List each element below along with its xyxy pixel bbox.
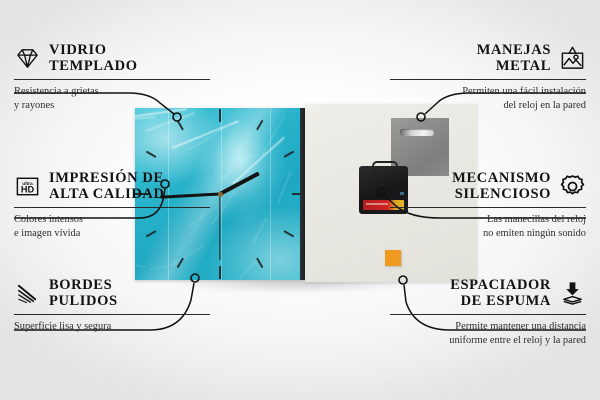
feature-espaciador-de-espuma: ESPACIADOR DE ESPUMA Permite mantener un…	[390, 277, 586, 348]
feature-desc-line1: Permite mantener una distancia	[390, 320, 586, 334]
feature-desc-line1: Las manecillas del reloj	[390, 213, 586, 227]
feature-desc-line1: Permiten una fácil instalación	[390, 85, 586, 99]
foam-spacer-icon	[559, 280, 586, 307]
gear-icon	[559, 173, 586, 200]
feature-title: VIDRIO TEMPLADO	[49, 42, 138, 74]
divider	[14, 79, 210, 80]
feature-header: MECANISMO SILENCIOSO	[390, 170, 586, 202]
polished-edges-icon	[14, 280, 41, 307]
feature-mecanismo-silencioso: MECANISMO SILENCIOSO Las manecillas del …	[390, 170, 586, 241]
diamond-icon	[14, 45, 41, 72]
feature-title-line1: BORDES	[49, 277, 118, 293]
divider	[14, 314, 210, 315]
feature-title-line1: MECANISMO	[452, 170, 551, 186]
divider	[390, 207, 586, 208]
feature-title-line1: ESPACIADOR	[450, 277, 551, 293]
feature-desc-line2: e imagen vívida	[14, 227, 210, 241]
feature-title-line2: DE ESPUMA	[450, 293, 551, 309]
feature-bordes-pulidos: BORDES PULIDOS Superficie lisa y segura	[14, 277, 210, 334]
feature-description: Superficie lisa y segura	[14, 320, 210, 334]
feature-title: BORDES PULIDOS	[49, 277, 118, 309]
feature-title-line2: METAL	[477, 58, 551, 74]
feature-desc-line2: no emiten ningún sonido	[390, 227, 586, 241]
svg-text:HD: HD	[21, 184, 35, 194]
feature-description: Las manecillas del reloj no emiten ningú…	[390, 213, 586, 241]
feature-title: MANEJAS METAL	[477, 42, 551, 74]
feature-header: VIDRIO TEMPLADO	[14, 42, 210, 74]
feature-description: Permite mantener una distancia uniforme …	[390, 320, 586, 348]
feature-title-line1: MANEJAS	[477, 42, 551, 58]
divider	[390, 79, 586, 80]
feature-header: ultra HD IMPRESIÓN DE ALTA CALIDAD	[14, 170, 210, 202]
feature-desc-line1: Resistencia a grietas	[14, 85, 210, 99]
feature-title: ESPACIADOR DE ESPUMA	[450, 277, 551, 309]
wall-mount-picture-icon	[559, 45, 586, 72]
divider	[390, 314, 586, 315]
feature-title-line1: IMPRESIÓN DE	[49, 170, 165, 186]
feature-title-line1: VIDRIO	[49, 42, 138, 58]
divider	[14, 207, 210, 208]
feature-impresion-alta-calidad: ultra HD IMPRESIÓN DE ALTA CALIDAD Color…	[14, 170, 210, 241]
feature-vidrio-templado: VIDRIO TEMPLADO Resistencia a grietas y …	[14, 42, 210, 113]
feature-description: Resistencia a grietas y rayones	[14, 85, 210, 113]
feature-title: MECANISMO SILENCIOSO	[452, 170, 551, 202]
feature-desc-line2: y rayones	[14, 99, 210, 113]
feature-title-line2: ALTA CALIDAD	[49, 186, 165, 202]
feature-header: MANEJAS METAL	[390, 42, 586, 74]
feature-desc-line1: Superficie lisa y segura	[14, 320, 210, 334]
ultra-hd-icon: ultra HD	[14, 173, 41, 200]
feature-header: ESPACIADOR DE ESPUMA	[390, 277, 586, 309]
feature-title-line2: TEMPLADO	[49, 58, 138, 74]
feature-title: IMPRESIÓN DE ALTA CALIDAD	[49, 170, 165, 202]
feature-desc-line2: del reloj en la pared	[390, 99, 586, 113]
feature-desc-line2: uniforme entre el reloj y la pared	[390, 334, 586, 348]
feature-description: Permiten una fácil instalación del reloj…	[390, 85, 586, 113]
feature-description: Colores intensos e imagen vívida	[14, 213, 210, 241]
feature-manejas-metal: MANEJAS METAL Permiten una fácil instala…	[390, 42, 586, 113]
feature-title-line2: SILENCIOSO	[452, 186, 551, 202]
feature-title-line2: PULIDOS	[49, 293, 118, 309]
feature-desc-line1: Colores intensos	[14, 213, 210, 227]
infographic-canvas: VIDRIO TEMPLADO Resistencia a grietas y …	[0, 0, 600, 400]
feature-header: BORDES PULIDOS	[14, 277, 210, 309]
